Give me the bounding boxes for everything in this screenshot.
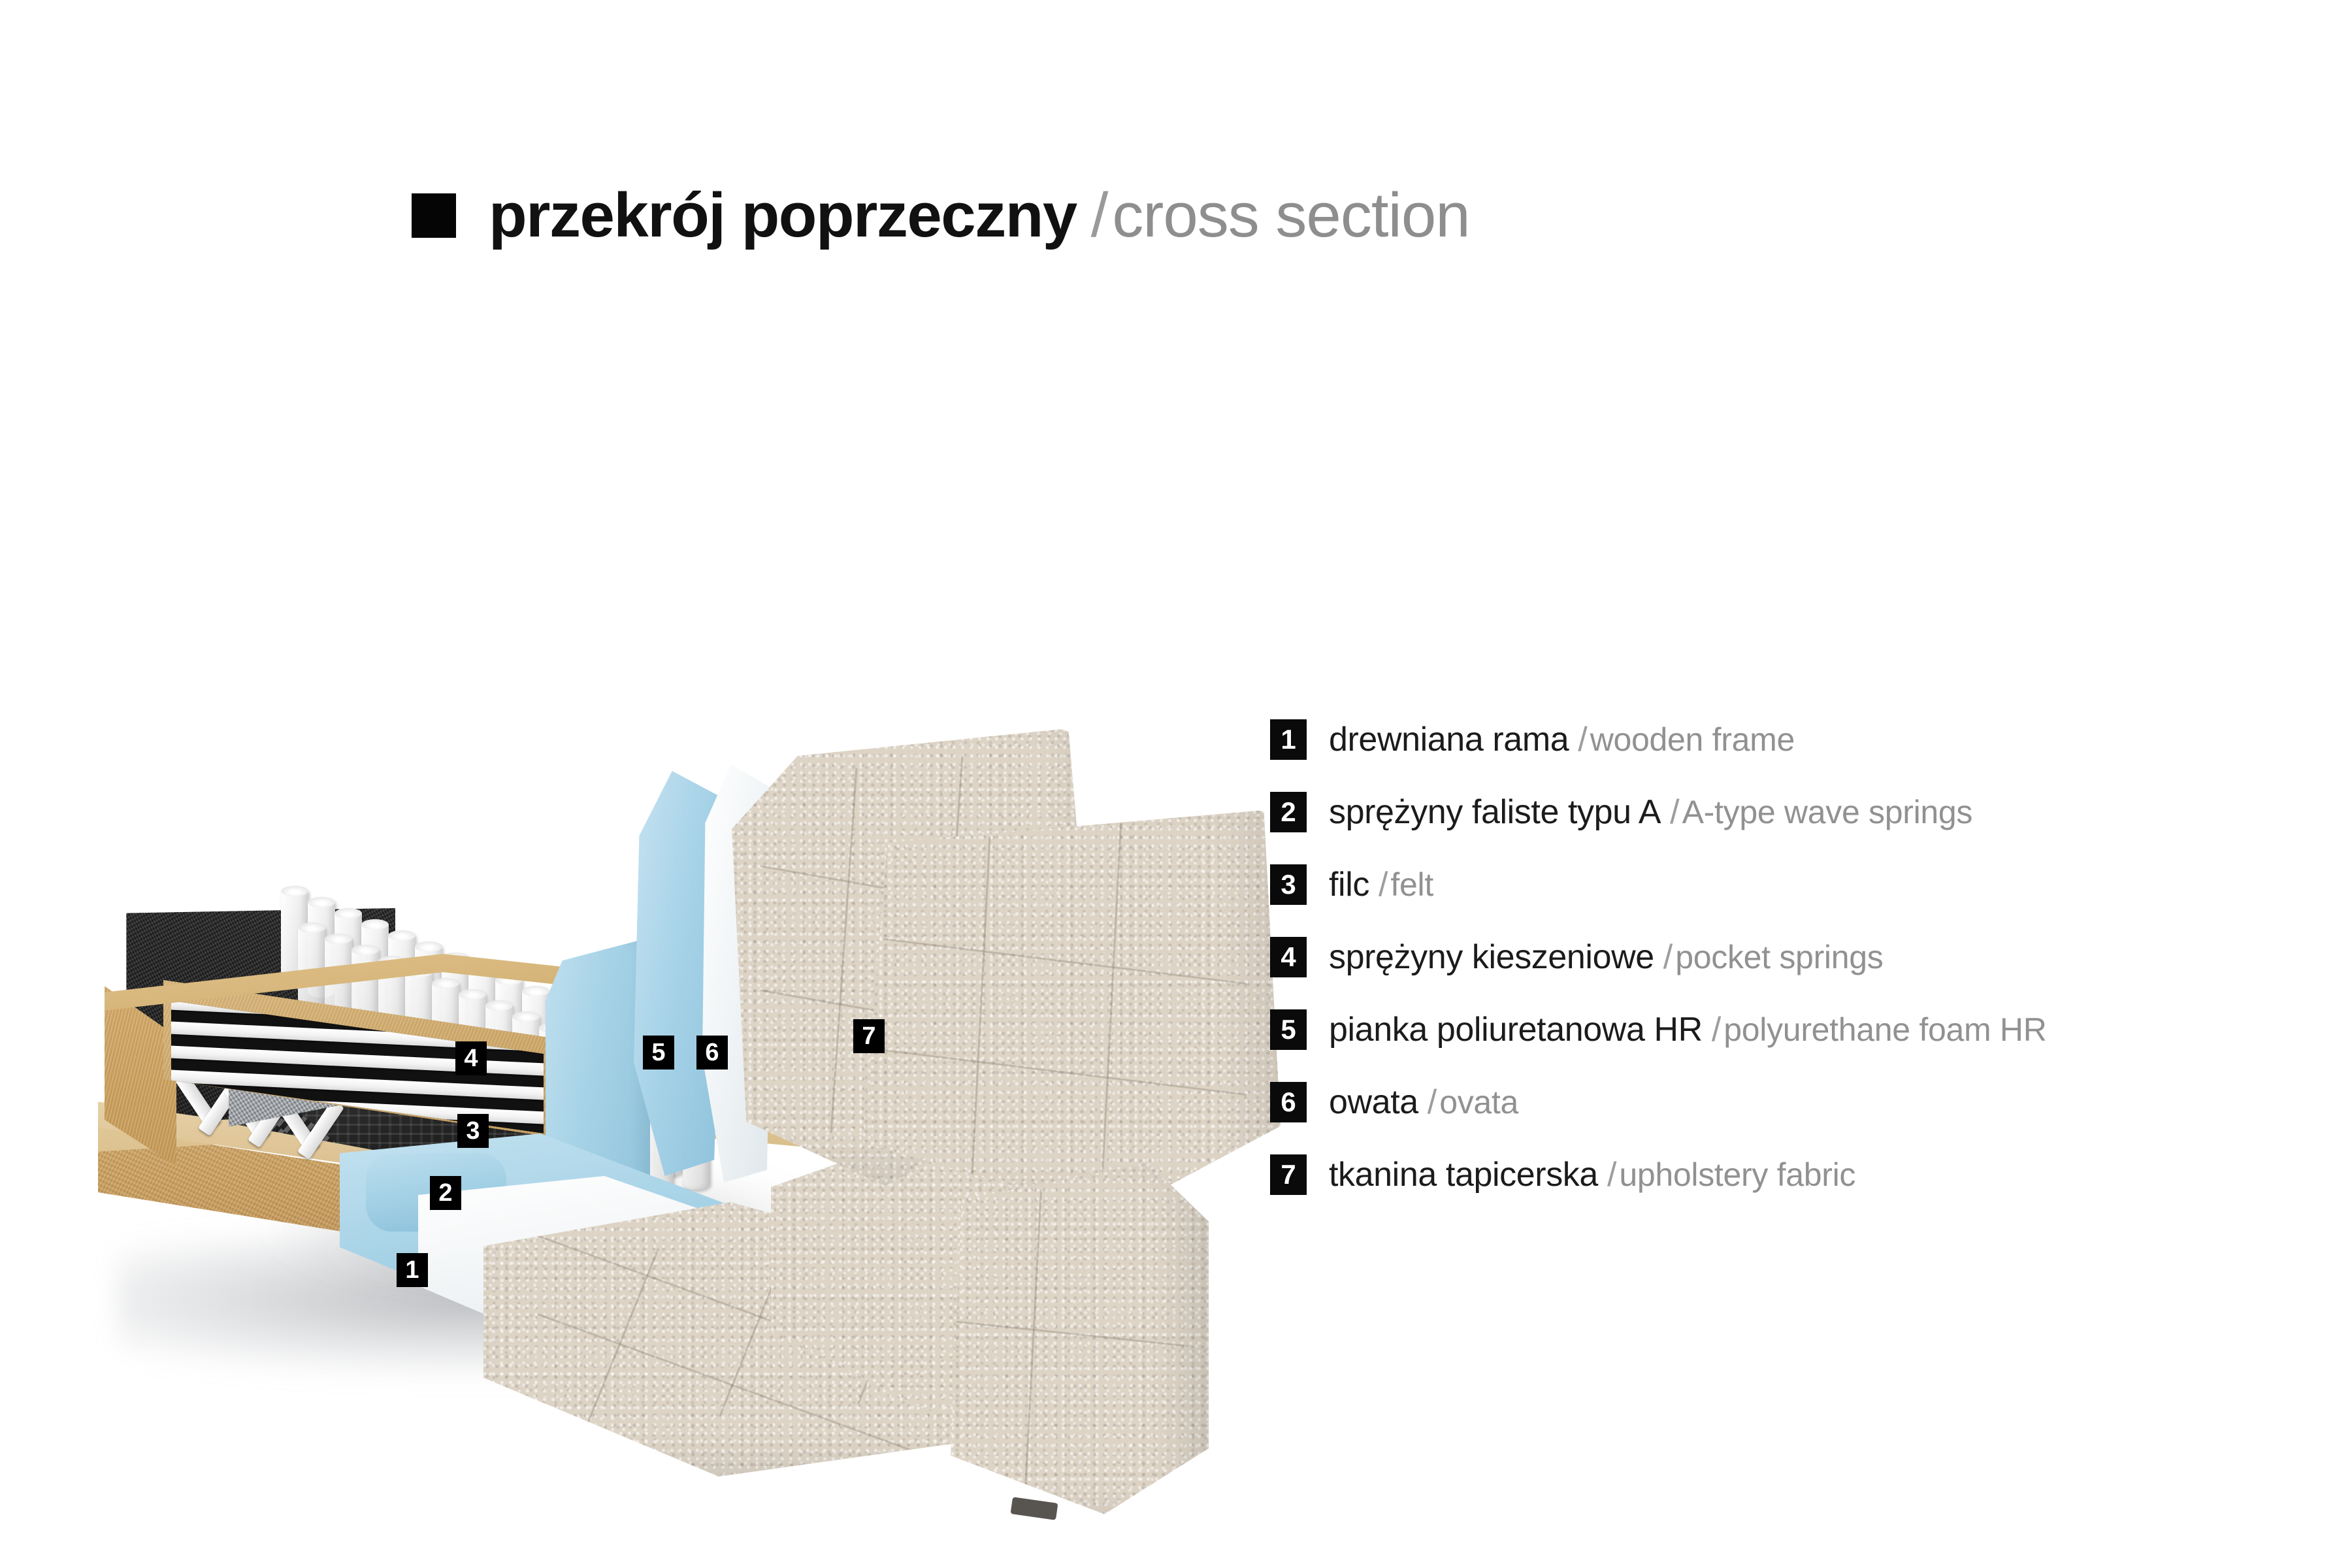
legend-badge-6: 6 — [1270, 1082, 1307, 1122]
legend-item-4: 4sprężyny kieszeniowe/pocket springs — [1270, 934, 2047, 981]
legend-label-polish-4: sprężyny kieszeniowe — [1329, 938, 1654, 977]
fabric-seam — [883, 938, 1247, 985]
fabric-seam — [1024, 1189, 1042, 1490]
legend-separator-3: / — [1379, 865, 1388, 904]
legend-separator-7: / — [1607, 1155, 1616, 1194]
legend-item-5: 5pianka poliuretanowa HR/polyurethane fo… — [1270, 1006, 2047, 1053]
legend-label-polish-7: tkanina tapicerska — [1329, 1155, 1598, 1194]
legend-badge-1: 1 — [1270, 719, 1307, 760]
page-title: przekrój poprzeczny / cross section — [412, 184, 1470, 247]
legend-item-2: 2sprężyny faliste typu A/A-type wave spr… — [1270, 789, 2047, 836]
legend-separator-1: / — [1578, 720, 1587, 759]
fabric-seam — [1102, 823, 1122, 1175]
callout-badge-1: 1 — [397, 1253, 428, 1287]
callout-badge-5: 5 — [643, 1036, 674, 1070]
legend-label-english-3: felt — [1390, 866, 1433, 904]
legend-item-7: 7tkanina tapicerska/upholstery fabric — [1270, 1151, 2047, 1198]
legend-badge-3: 3 — [1270, 864, 1307, 905]
legend-separator-4: / — [1663, 938, 1673, 977]
legend-item-6: 6owata/ovata — [1270, 1079, 2047, 1126]
callout-badge-2: 2 — [430, 1176, 461, 1210]
legend-label-english-1: wooden frame — [1590, 721, 1795, 759]
title-separator: / — [1091, 184, 1109, 247]
fabric-seam — [971, 836, 990, 1175]
callout-badge-4: 4 — [455, 1041, 487, 1075]
legend-separator-5: / — [1712, 1010, 1721, 1049]
legend-badge-2: 2 — [1270, 792, 1307, 832]
upholstery-fabric-right-arm — [934, 1163, 1209, 1529]
legend-label-polish-5: pianka poliuretanowa HR — [1329, 1010, 1703, 1049]
fabric-seam — [883, 1049, 1247, 1096]
legend-label-english-5: polyurethane foam HR — [1723, 1011, 2046, 1049]
callout-badge-3: 3 — [457, 1114, 489, 1148]
legend-label-english-7: upholstery fabric — [1619, 1156, 1855, 1194]
callout-badge-7: 7 — [853, 1019, 885, 1053]
sofa-foot — [1011, 1497, 1058, 1520]
fabric-seam — [830, 768, 857, 1134]
upholstery-fabric-backrest-rear — [862, 810, 1281, 1215]
legend-label-polish-1: drewniana rama — [1329, 720, 1569, 759]
legend-label-english-6: ovata — [1439, 1083, 1518, 1121]
legend-label-polish-2: sprężyny faliste typu A — [1329, 792, 1661, 832]
legend-item-3: 3filc/felt — [1270, 861, 2047, 908]
legend-badge-7: 7 — [1270, 1154, 1307, 1195]
sofa-cross-section-illustration — [0, 457, 1209, 1503]
callout-badge-6: 6 — [696, 1036, 728, 1070]
legend-list: 1drewniana rama/wooden frame2sprężyny fa… — [1270, 716, 2047, 1198]
legend-item-1: 1drewniana rama/wooden frame — [1270, 716, 2047, 763]
legend-badge-5: 5 — [1270, 1009, 1307, 1050]
square-bullet-icon — [412, 193, 456, 238]
title-english: cross section — [1112, 184, 1469, 247]
legend-label-english-4: pocket springs — [1675, 938, 1883, 976]
legend-badge-4: 4 — [1270, 937, 1307, 977]
legend-separator-6: / — [1428, 1083, 1437, 1122]
title-polish: przekrój poprzeczny — [489, 184, 1077, 247]
legend-separator-2: / — [1670, 792, 1679, 832]
legend-label-english-2: A-type wave springs — [1682, 793, 1973, 831]
legend-label-polish-3: filc — [1329, 865, 1369, 904]
fabric-seam — [955, 1320, 1188, 1347]
legend-label-polish-6: owata — [1329, 1083, 1418, 1122]
